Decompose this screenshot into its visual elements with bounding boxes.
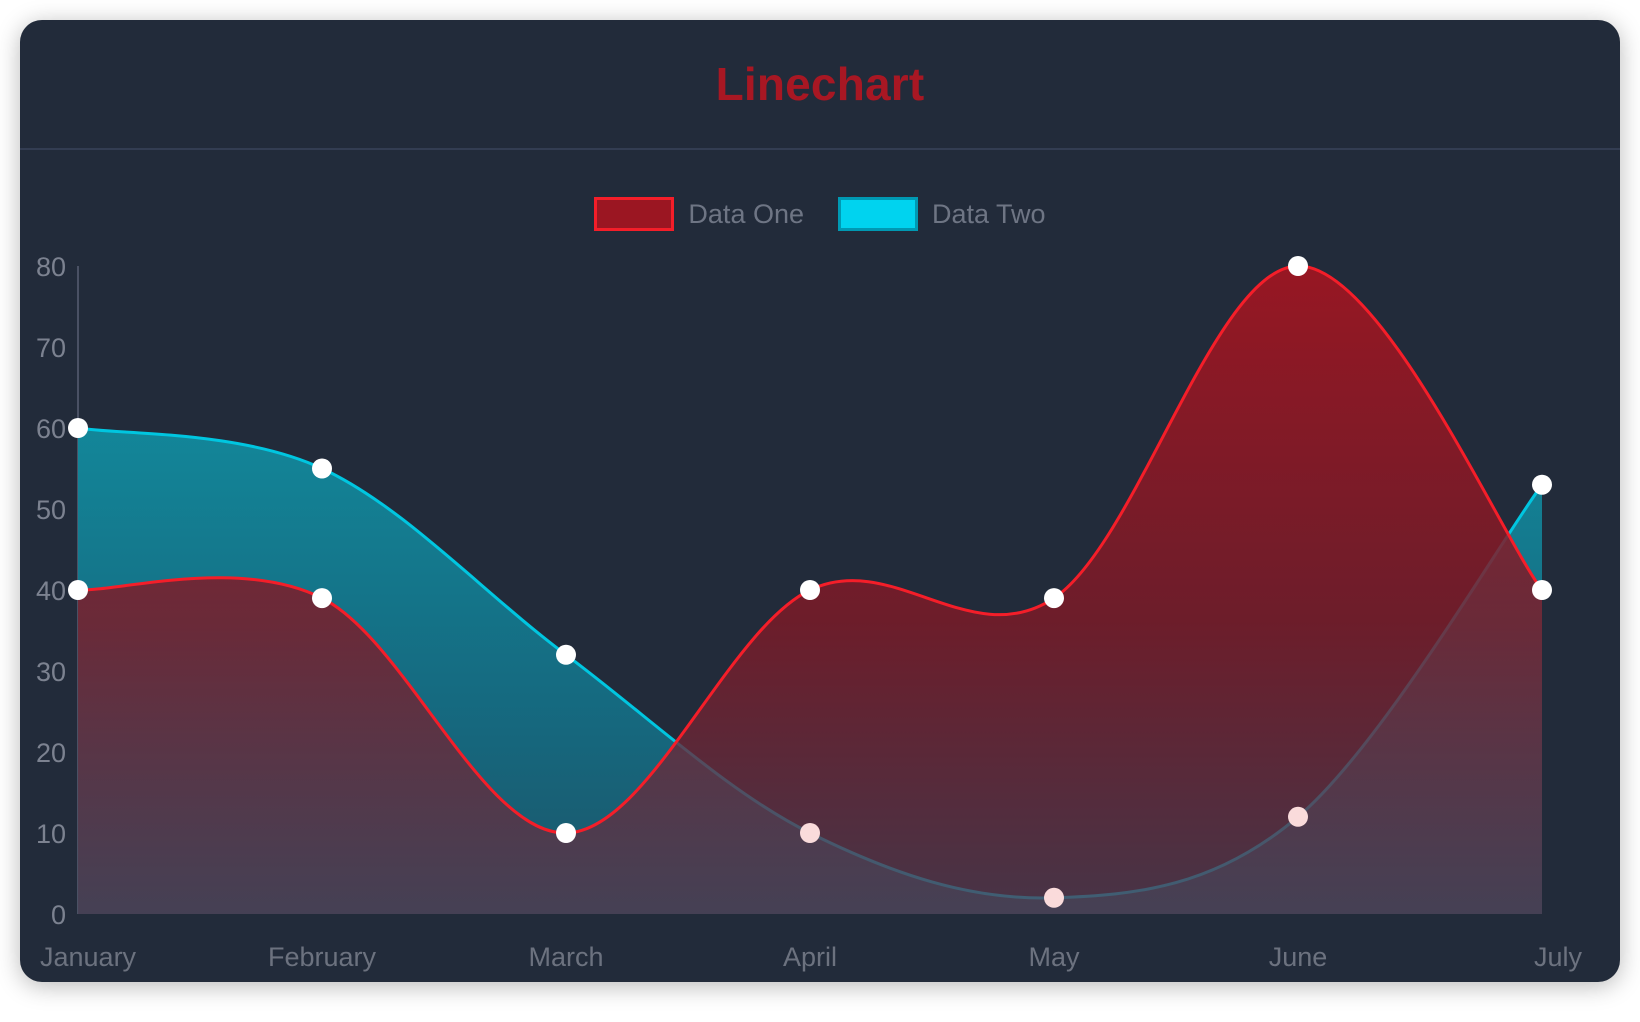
data-point[interactable]	[68, 418, 88, 438]
y-axis-tick-label: 10	[36, 819, 66, 849]
x-axis-tick-label: January	[40, 942, 137, 972]
y-axis-tick-label: 30	[36, 657, 66, 687]
data-point[interactable]	[1288, 807, 1308, 827]
linechart-card: Linechart Data One Data Two	[20, 20, 1620, 982]
x-axis-tick-label: February	[268, 942, 377, 972]
data-point[interactable]	[800, 580, 820, 600]
y-axis-tick-label: 40	[36, 576, 66, 606]
chart-body: Data One Data Two	[20, 152, 1620, 982]
data-point[interactable]	[556, 823, 576, 843]
data-point[interactable]	[1044, 888, 1064, 908]
data-point[interactable]	[1532, 580, 1552, 600]
x-axis-tick-label: June	[1269, 942, 1328, 972]
page-title: Linechart	[716, 61, 925, 107]
x-axis-layer: JanuaryFebruaryMarchAprilMayJuneJuly	[40, 942, 1582, 972]
y-axis-tick-label: 70	[36, 333, 66, 363]
y-axis-tick-label: 0	[51, 900, 66, 930]
card-header: Linechart	[20, 20, 1620, 150]
y-axis-tick-label: 80	[36, 252, 66, 282]
y-axis-tick-label: 60	[36, 414, 66, 444]
page-root: Linechart Data One Data Two	[0, 0, 1640, 1022]
x-axis-tick-label: July	[1534, 942, 1583, 972]
data-point[interactable]	[312, 588, 332, 608]
data-point[interactable]	[312, 459, 332, 479]
linechart-svg[interactable]: 80706050403020100 JanuaryFebruaryMarchAp…	[20, 152, 1620, 982]
series-layer	[68, 256, 1552, 914]
plot-area: 80706050403020100 JanuaryFebruaryMarchAp…	[20, 152, 1620, 982]
y-axis-tick-label: 20	[36, 738, 66, 768]
data-point[interactable]	[1288, 256, 1308, 276]
data-point[interactable]	[1044, 588, 1064, 608]
x-axis-tick-label: May	[1028, 942, 1080, 972]
data-point[interactable]	[68, 580, 88, 600]
data-point[interactable]	[556, 645, 576, 665]
x-axis-tick-label: March	[528, 942, 603, 972]
y-axis-tick-label: 50	[36, 495, 66, 525]
data-point[interactable]	[800, 823, 820, 843]
data-point[interactable]	[1532, 475, 1552, 495]
x-axis-tick-label: April	[783, 942, 837, 972]
